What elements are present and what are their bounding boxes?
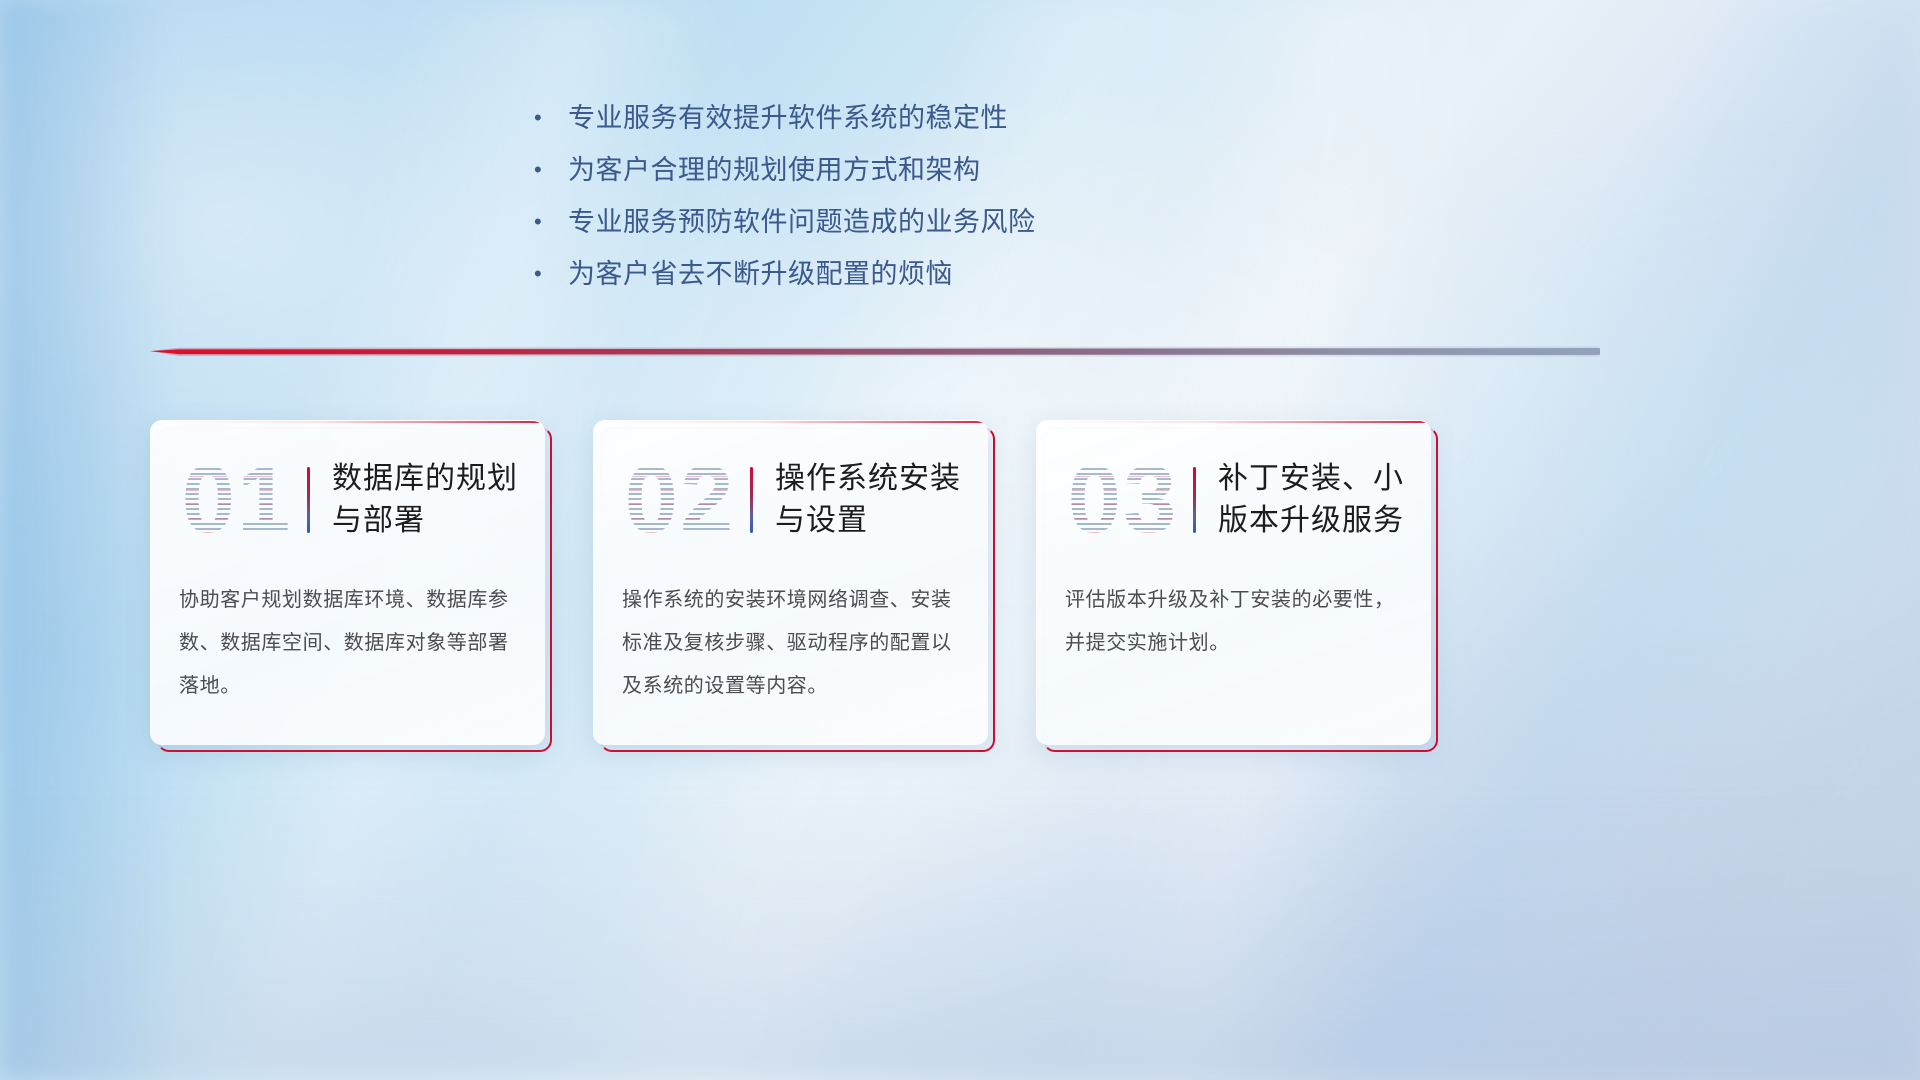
bullet-item-4: • 为客户省去不断升级配置的烦恼 [534, 248, 1294, 300]
card-surface[interactable]: 02 02 操作系统安装与设置 操作系统的安装环境网络调查、安装标准及复核步骤、… [593, 420, 988, 745]
bullet-marker-icon: • [534, 144, 568, 196]
bullet-text: 专业服务有效提升软件系统的稳定性 [568, 92, 1008, 144]
background-edge-bottom [0, 799, 1920, 1080]
benefits-bullet-list: • 专业服务有效提升软件系统的稳定性 • 为客户合理的规划使用方式和架构 • 专… [534, 92, 1294, 300]
service-cards-row: 01 01 数据库的规划与部署 协助客户规划数据库环境、数据库参数、数据库空间、… [150, 420, 1770, 745]
card-top-hairline [151, 421, 545, 423]
watermark-number-red-specks: 02 [616, 448, 744, 552]
card-number-watermark: 02 02 [616, 448, 744, 552]
card-title: 数据库的规划与部署 [332, 458, 545, 542]
bullet-marker-icon: • [534, 196, 568, 248]
watermark-number-red-specks: 01 [173, 448, 301, 552]
card-title: 操作系统安装与设置 [775, 458, 988, 542]
card-description: 操作系统的安装环境网络调查、安装标准及复核步骤、驱动程序的配置以及系统的设置等内… [622, 579, 964, 708]
card-number-watermark: 03 03 [1059, 448, 1187, 552]
service-card-02[interactable]: 02 02 操作系统安装与设置 操作系统的安装环境网络调查、安装标准及复核步骤、… [593, 420, 988, 745]
watermark-number-red-specks: 03 [1059, 448, 1187, 552]
bullet-marker-icon: • [534, 248, 568, 300]
card-top-hairline [594, 421, 988, 423]
card-header: 01 01 数据库的规划与部署 [151, 445, 545, 555]
card-description: 协助客户规划数据库环境、数据库参数、数据库空间、数据库对象等部署落地。 [179, 579, 521, 708]
title-accent-bar [750, 467, 753, 533]
title-accent-bar [1193, 467, 1196, 533]
card-header: 03 03 补丁安装、小版本升级服务 [1037, 445, 1431, 555]
card-surface[interactable]: 03 03 补丁安装、小版本升级服务 评估版本升级及补丁安装的必要性，并提交实施… [1036, 420, 1431, 745]
service-card-01[interactable]: 01 01 数据库的规划与部署 协助客户规划数据库环境、数据库参数、数据库空间、… [150, 420, 545, 745]
bullet-text: 专业服务预防软件问题造成的业务风险 [568, 196, 1036, 248]
bullet-item-3: • 专业服务预防软件问题造成的业务风险 [534, 196, 1294, 248]
card-number-watermark: 01 01 [173, 448, 301, 552]
card-title: 补丁安装、小版本升级服务 [1218, 458, 1431, 542]
card-header: 02 02 操作系统安装与设置 [594, 445, 988, 555]
bullet-text: 为客户省去不断升级配置的烦恼 [568, 248, 953, 300]
title-accent-bar [307, 467, 310, 533]
section-divider [150, 344, 1600, 364]
card-description: 评估版本升级及补丁安装的必要性，并提交实施计划。 [1065, 579, 1407, 665]
bullet-marker-icon: • [534, 92, 568, 144]
card-top-hairline [1037, 421, 1431, 423]
bullet-item-2: • 为客户合理的规划使用方式和架构 [534, 144, 1294, 196]
service-card-03[interactable]: 03 03 补丁安装、小版本升级服务 评估版本升级及补丁安装的必要性，并提交实施… [1036, 420, 1431, 745]
bullet-text: 为客户合理的规划使用方式和架构 [568, 144, 981, 196]
card-surface[interactable]: 01 01 数据库的规划与部署 协助客户规划数据库环境、数据库参数、数据库空间、… [150, 420, 545, 745]
bullet-item-1: • 专业服务有效提升软件系统的稳定性 [534, 92, 1294, 144]
